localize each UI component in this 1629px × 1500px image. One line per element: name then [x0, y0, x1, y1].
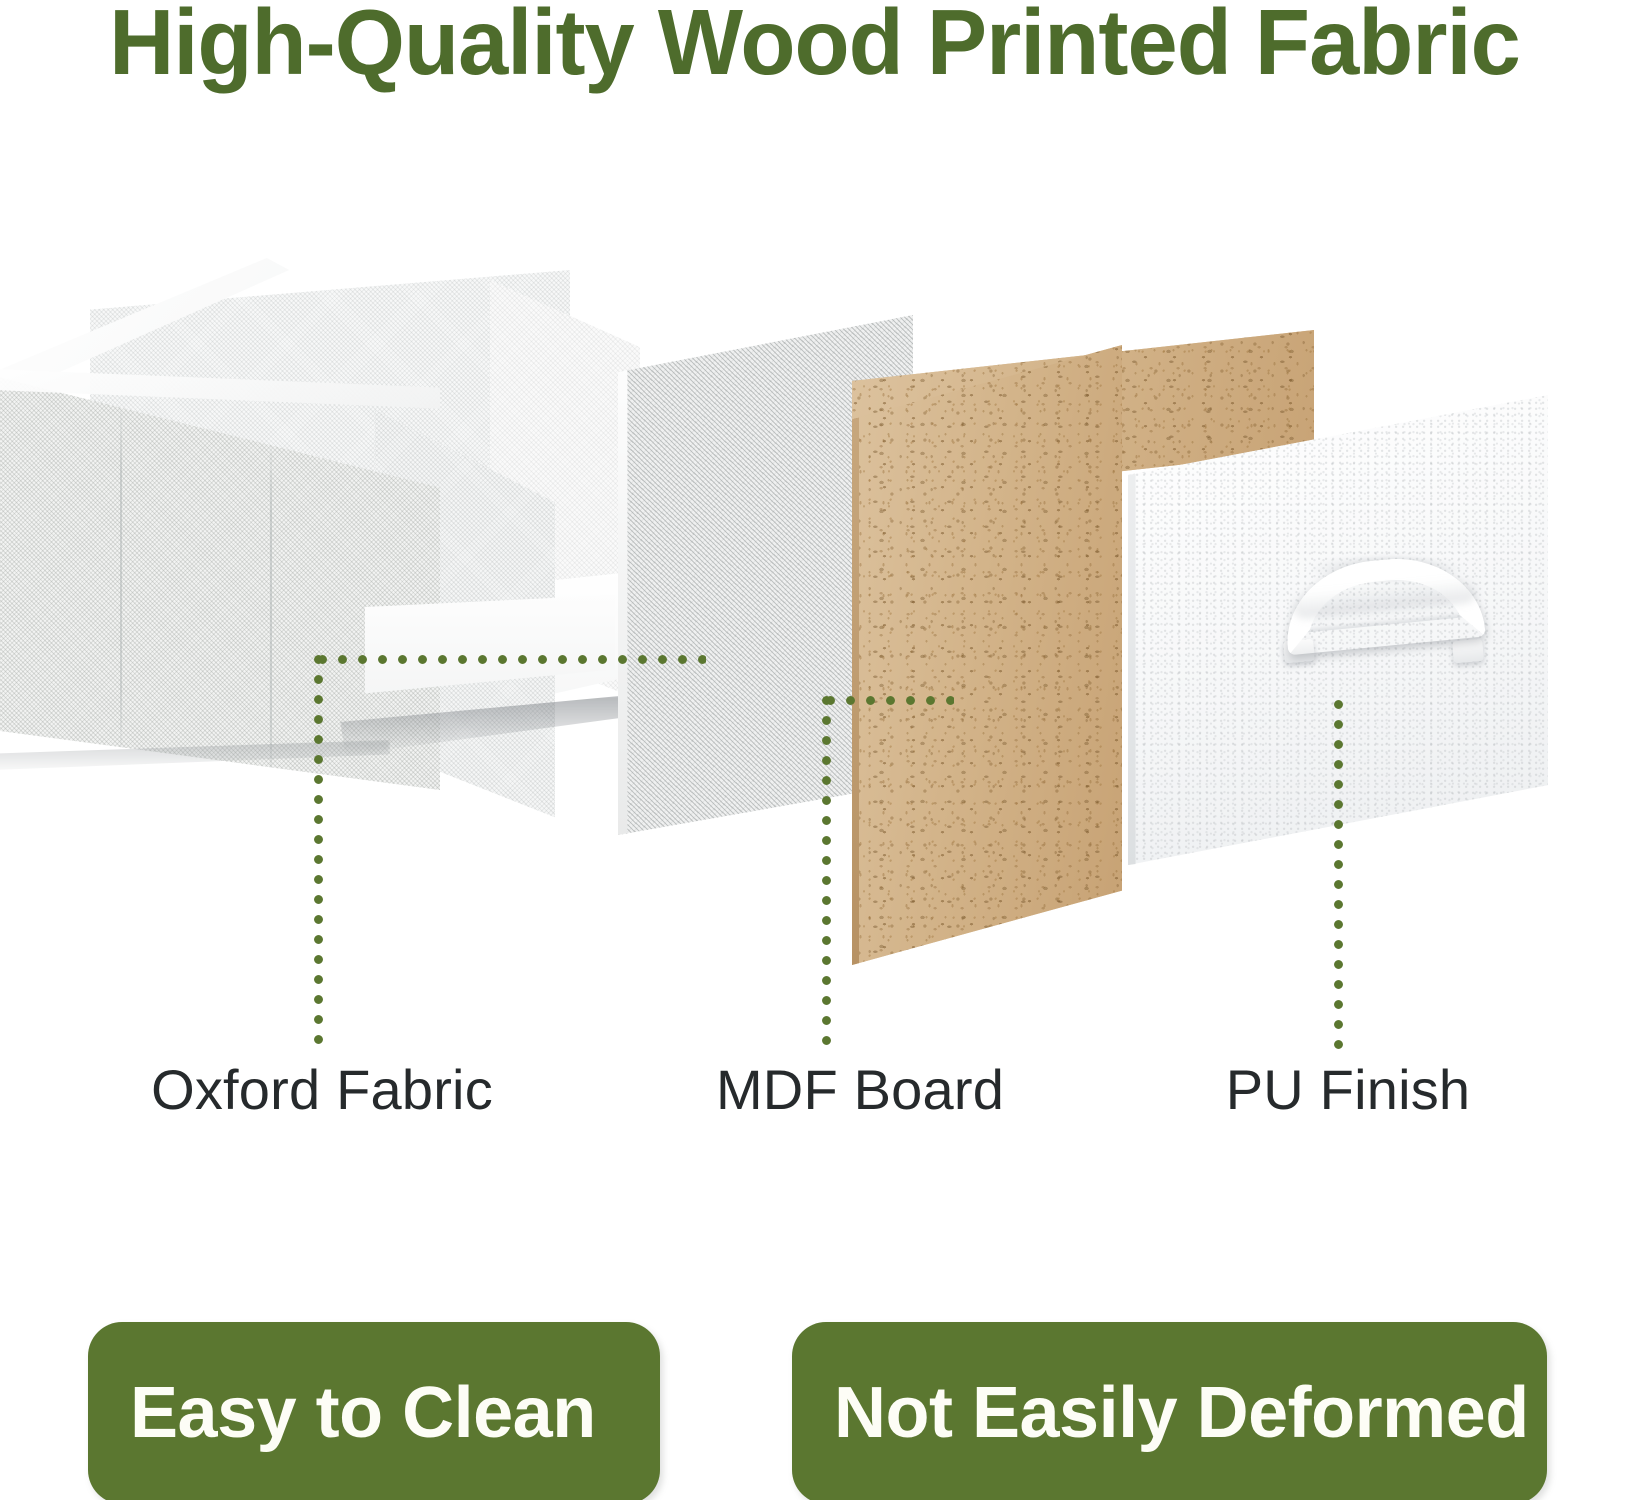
leader-line-oxford-fabric-horizontal — [318, 655, 706, 664]
leader-line-mdf-board-horizontal — [826, 696, 954, 705]
material-label-oxford-fabric: Oxford Fabric — [151, 1057, 493, 1122]
material-label-mdf-board: MDF Board — [716, 1057, 1004, 1122]
feature-badge-not-easily-deformed: Not Easily Deformed — [792, 1322, 1547, 1500]
leader-line-mdf-board-vertical — [822, 696, 831, 1056]
leader-line-oxford-fabric-vertical — [314, 655, 323, 1055]
handle-foot-right — [1452, 639, 1484, 664]
leader-line-pu-finish-vertical — [1334, 700, 1343, 1056]
drawer-handle — [1278, 552, 1488, 672]
product-exploded-illustration — [0, 230, 1629, 850]
infographic-canvas: High-Quality Wood Printed Fabric — [0, 0, 1629, 1500]
feature-badge-easy-to-clean: Easy to Clean — [88, 1322, 660, 1500]
page-title: High-Quality Wood Printed Fabric — [24, 0, 1604, 92]
box-seam-right — [270, 438, 272, 793]
box-seam-left — [120, 400, 122, 760]
oxford-fabric-drawer-box — [0, 240, 670, 820]
mdf-board-panel — [852, 345, 1122, 965]
material-label-pu-finish: PU Finish — [1226, 1057, 1471, 1122]
